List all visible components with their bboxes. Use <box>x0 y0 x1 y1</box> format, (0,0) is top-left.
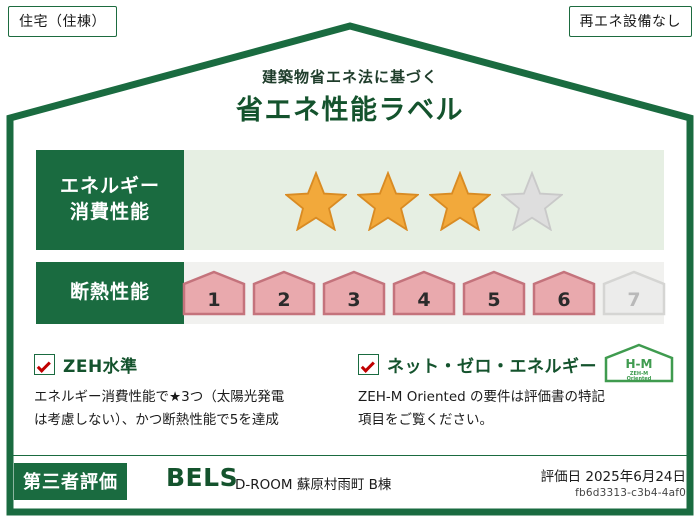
feature-zeh-title: ZEH水準 <box>63 352 138 377</box>
insulation-step-1: 1 <box>181 270 247 316</box>
evaluation-id: fb6d3313-c3b4-4af0 <box>575 487 686 499</box>
svg-text:Oriented: Oriented <box>627 376 652 382</box>
tag-building-type: 住宅（住棟） <box>8 6 117 37</box>
insulation-step-3: 3 <box>321 270 387 316</box>
check-icon <box>358 354 379 375</box>
feature-netzero-text: ZEH-M Oriented の要件は評価書の特記 項目をご覧ください。 <box>358 386 676 432</box>
insulation-step-5-label: 5 <box>461 289 527 311</box>
feature-net-zero-energy: H-M ZEH-M Oriented ネット・ゼロ・エネルギー ZEH-M Or… <box>358 352 676 432</box>
row-insulation-label: 断熱性能 <box>36 262 184 324</box>
building-name: D-ROOM 蘇原村雨町 B棟 <box>235 473 391 493</box>
insulation-step-5: 5 <box>461 270 527 316</box>
insulation-step-7: 7 <box>601 270 667 316</box>
insulation-step-2-label: 2 <box>251 289 317 311</box>
row-energy-body <box>184 150 664 250</box>
insulation-step-3-label: 3 <box>321 289 387 311</box>
insulation-step-4: 4 <box>391 270 457 316</box>
check-icon <box>34 354 55 375</box>
energy-performance-label: 住宅（住棟） 再エネ設備なし 建築物省エネ法に基づく 省エネ性能ラベル エネルギ… <box>0 0 700 522</box>
star-icon-filled-2 <box>357 171 419 231</box>
evaluation-date: 評価日 2025年6月24日 <box>541 465 686 485</box>
row-energy-label-line1: エネルギー <box>60 174 160 200</box>
feature-zeh-text: エネルギー消費性能で★3つ（太陽光発電 は考慮しない）、かつ断熱性能で5を達成 <box>34 386 346 432</box>
row-energy-consumption: エネルギー 消費性能 <box>36 150 664 250</box>
feature-zeh-text-line1: エネルギー消費性能で★3つ（太陽光発電 <box>34 386 346 409</box>
feature-netzero-title: ネット・ゼロ・エネルギー <box>387 352 597 377</box>
insulation-step-2: 2 <box>251 270 317 316</box>
feature-netzero-text-line2: 項目をご覧ください。 <box>358 409 676 432</box>
row-insulation: 断熱性能 1 2 3 4 <box>36 262 664 324</box>
insulation-step-4-label: 4 <box>391 289 457 311</box>
insulation-step-6: 6 <box>531 270 597 316</box>
footer: 第三者評価 BELS D-ROOM 蘇原村雨町 B棟 評価日 2025年6月24… <box>0 455 700 522</box>
bels-logo: BELS <box>166 463 238 492</box>
star-icon-filled-1 <box>285 171 347 231</box>
row-insulation-body: 1 2 3 4 5 <box>184 262 664 324</box>
insulation-step-scale: 1 2 3 4 5 <box>181 270 667 316</box>
feature-netzero-text-line1: ZEH-M Oriented の要件は評価書の特記 <box>358 386 676 409</box>
row-energy-label-line2: 消費性能 <box>70 200 150 226</box>
label-title: 省エネ性能ラベル <box>0 88 700 127</box>
feature-zeh-text-line2: は考慮しない）、かつ断熱性能で5を達成 <box>34 409 346 432</box>
zeh-m-oriented-badge-icon: H-M ZEH-M Oriented <box>602 342 676 384</box>
tag-renewable-energy: 再エネ設備なし <box>569 6 693 37</box>
insulation-step-7-label: 7 <box>601 289 667 311</box>
star-icon-filled-3 <box>429 171 491 231</box>
insulation-step-6-label: 6 <box>531 289 597 311</box>
star-icon-empty-4 <box>501 171 563 231</box>
row-insulation-label-line1: 断熱性能 <box>70 280 150 306</box>
third-party-evaluation-badge: 第三者評価 <box>14 463 127 500</box>
feature-zeh-head: ZEH水準 <box>34 352 346 377</box>
star-rating <box>285 171 563 231</box>
feature-zeh-standard: ZEH水準 エネルギー消費性能で★3つ（太陽光発電 は考慮しない）、かつ断熱性能… <box>34 352 346 432</box>
row-energy-label: エネルギー 消費性能 <box>36 150 184 250</box>
svg-text:H-M: H-M <box>626 357 653 371</box>
label-subtitle: 建築物省エネ法に基づく <box>0 66 700 87</box>
insulation-step-1-label: 1 <box>181 289 247 311</box>
